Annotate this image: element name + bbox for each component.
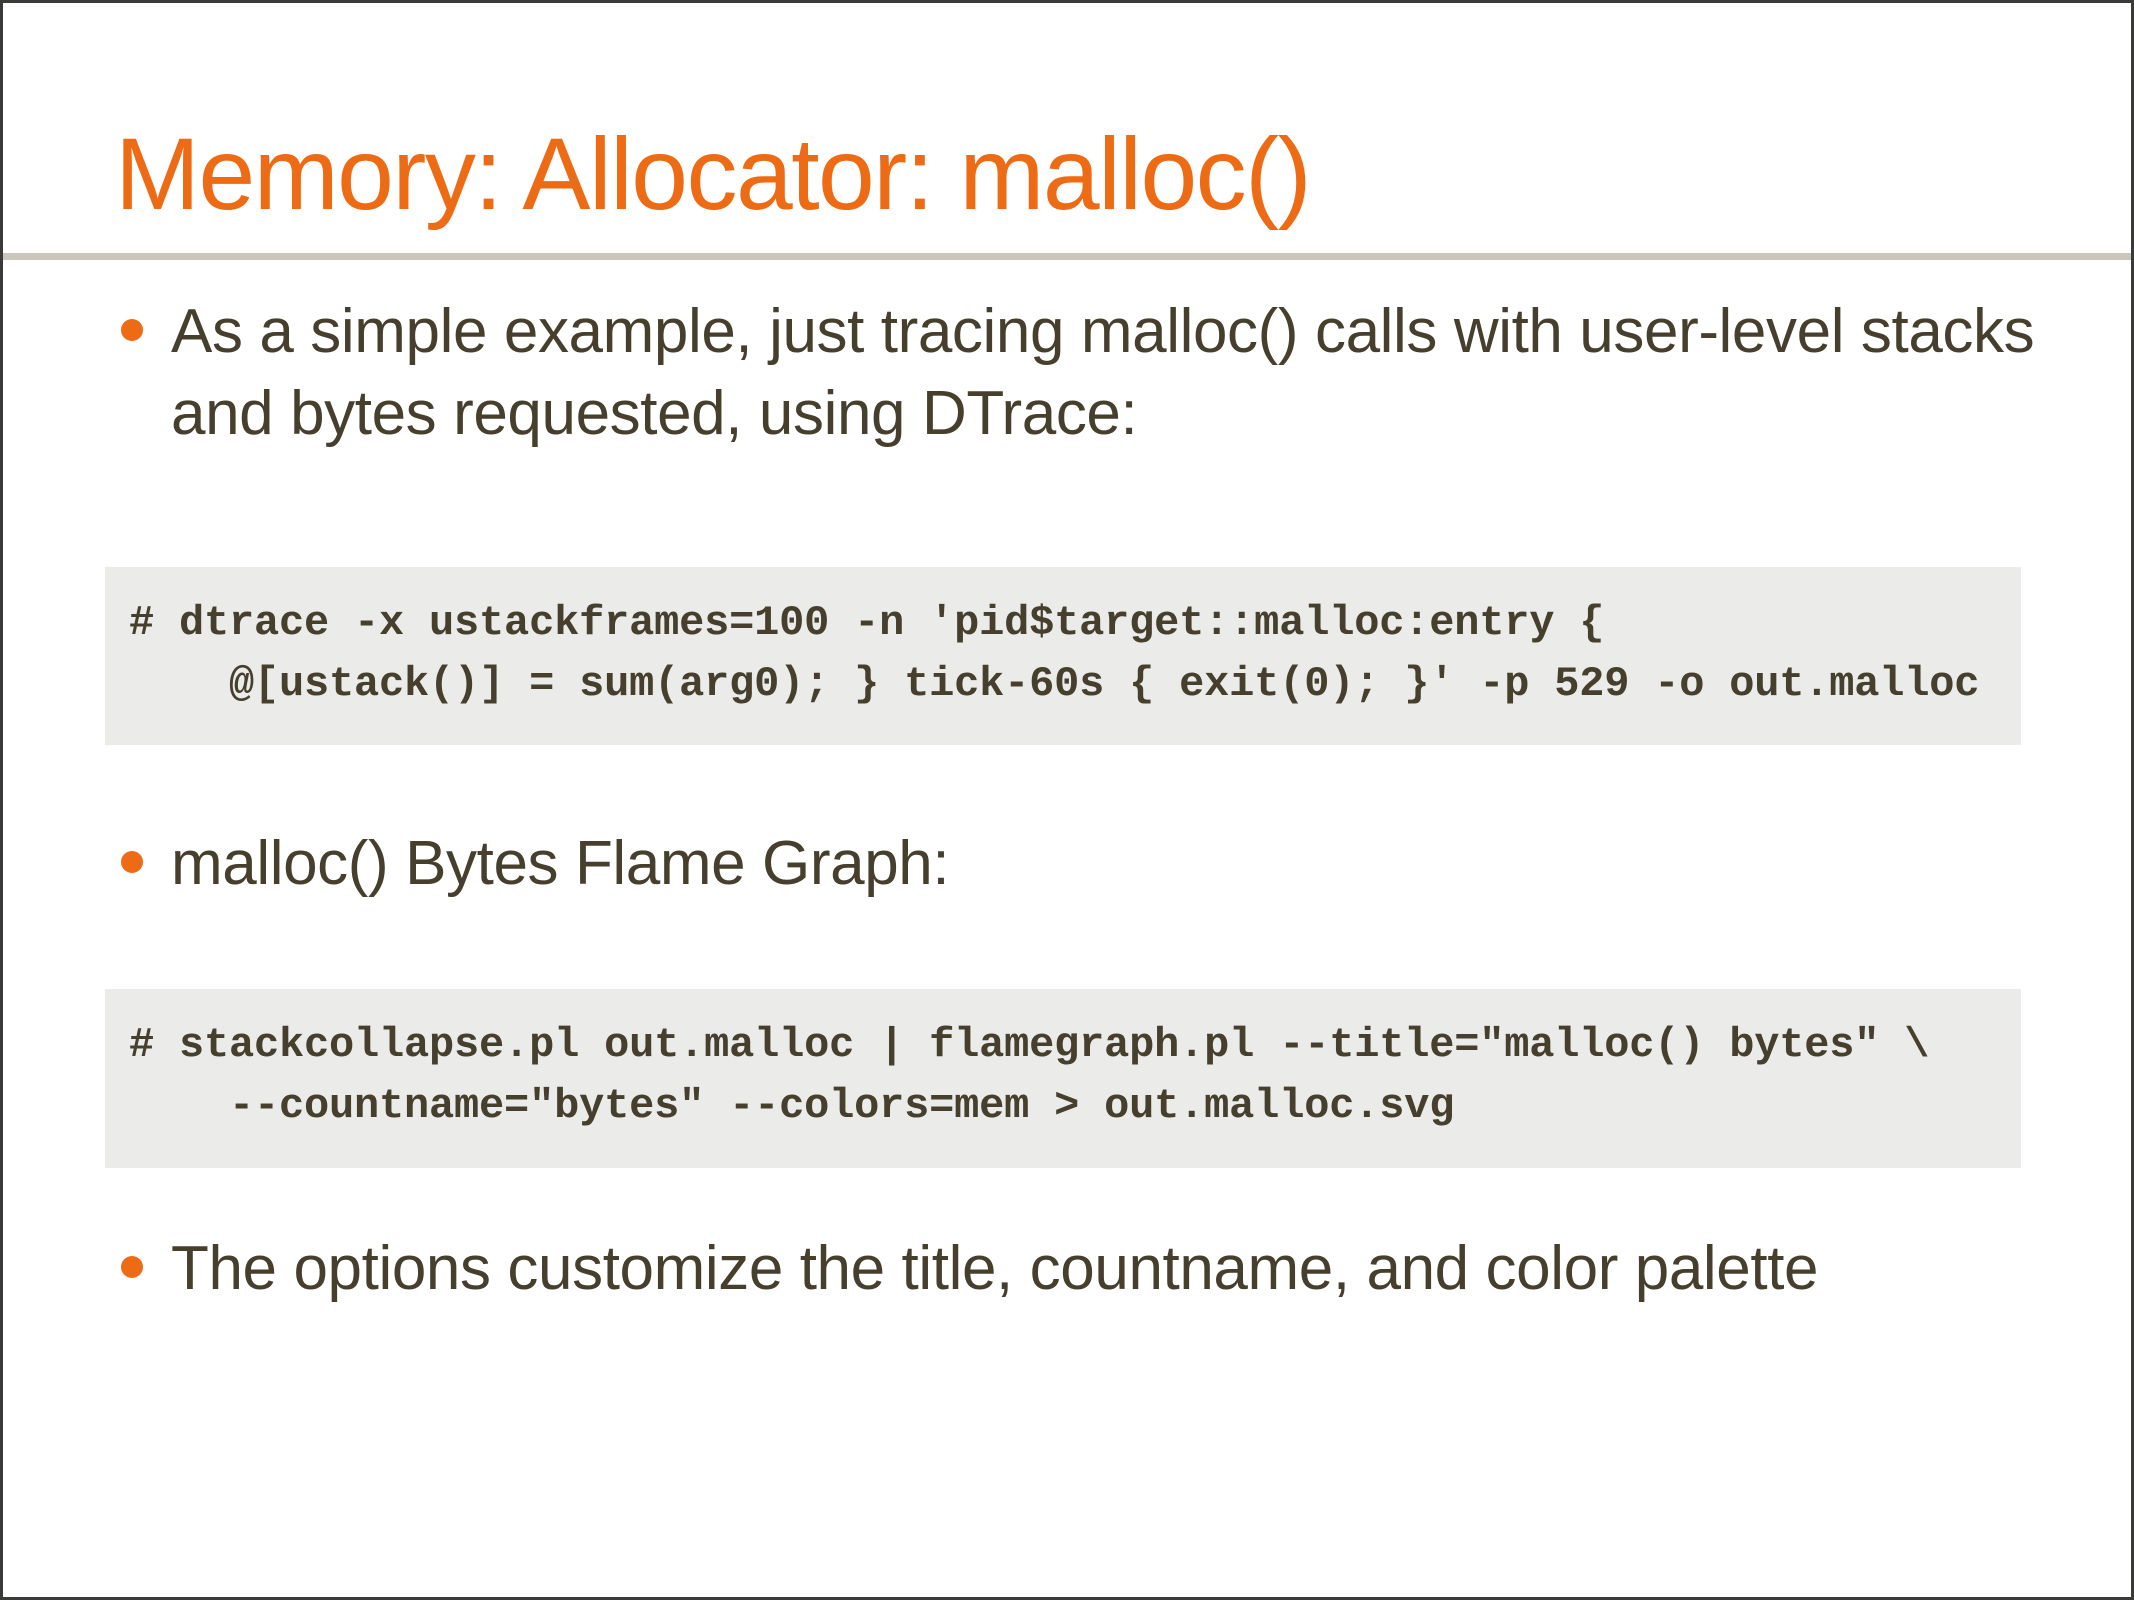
code-line: # dtrace -x ustackframes=100 -n 'pid$tar… xyxy=(105,593,2021,654)
code-line: --countname="bytes" --colors=mem > out.m… xyxy=(105,1076,2021,1137)
bullet-item-1: As a simple example, just tracing malloc… xyxy=(3,291,2134,455)
code-block-dtrace: # dtrace -x ustackframes=100 -n 'pid$tar… xyxy=(105,567,2021,746)
bullet-item-2: malloc() Bytes Flame Graph: xyxy=(3,823,2134,905)
code-line: # stackcollapse.pl out.malloc | flamegra… xyxy=(105,1015,2021,1076)
title-divider xyxy=(3,253,2131,260)
bullet-text-3: The options customize the title, countna… xyxy=(171,1228,2037,1310)
spacer xyxy=(3,905,2134,989)
bullet-dot-icon xyxy=(121,319,143,341)
code-block-flamegraph: # stackcollapse.pl out.malloc | flamegra… xyxy=(105,989,2021,1168)
code-line: @[ustack()] = sum(arg0); } tick-60s { ex… xyxy=(105,654,2021,715)
bullet-text-2: malloc() Bytes Flame Graph: xyxy=(171,823,2037,905)
presentation-slide: Memory: Allocator: malloc() As a simple … xyxy=(0,0,2134,1600)
bullet-item-3: The options customize the title, countna… xyxy=(3,1228,2134,1310)
page-title: Memory: Allocator: malloc() xyxy=(115,121,1310,227)
spacer xyxy=(3,1168,2134,1228)
bullet-dot-icon xyxy=(121,1256,143,1278)
bullet-dot-icon xyxy=(121,851,143,873)
spacer xyxy=(3,455,2134,567)
slide-body: As a simple example, just tracing malloc… xyxy=(3,291,2134,1310)
bullet-text-1: As a simple example, just tracing malloc… xyxy=(171,291,2037,455)
spacer xyxy=(3,745,2134,823)
